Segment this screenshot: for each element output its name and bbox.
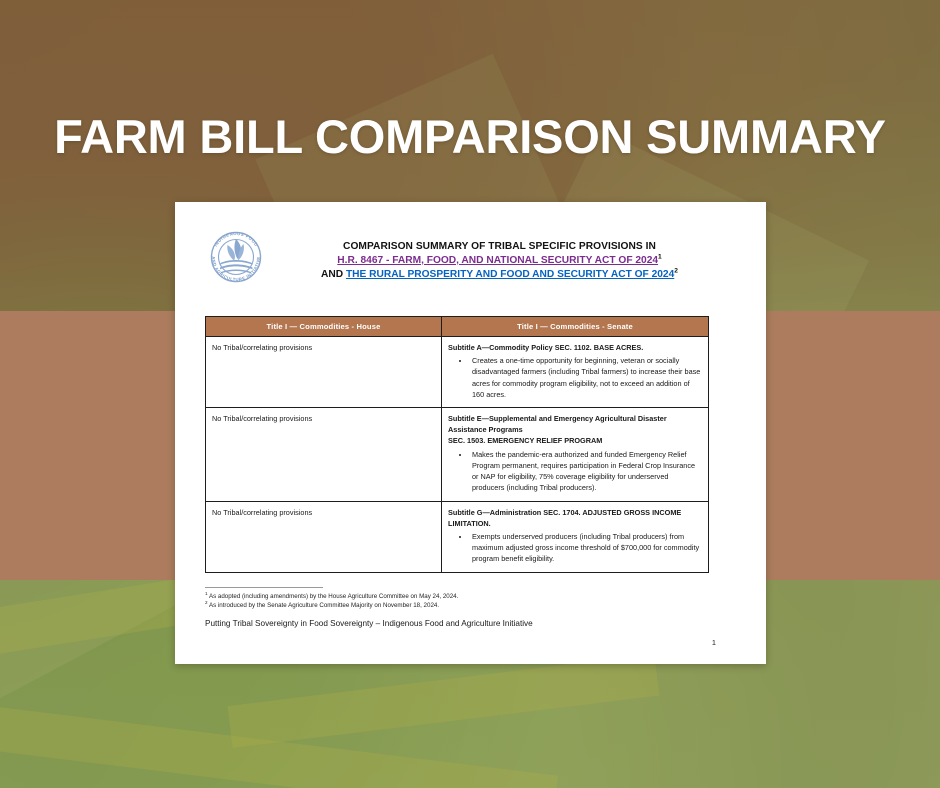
cell-house-provisions: No Tribal/correlating provisions: [206, 501, 442, 572]
document-tagline: Putting Tribal Sovereignty in Food Sover…: [205, 619, 736, 628]
table-row: No Tribal/correlating provisions Subtitl…: [206, 408, 709, 501]
cell-house-provisions: No Tribal/correlating provisions: [206, 337, 442, 408]
footnote-ref-1: 1: [658, 253, 662, 260]
banner-title: FARM BILL COMPARISON SUMMARY: [0, 112, 940, 161]
document-header: INDIGENOUS FOOD AND AGRICULTURE INITIATI…: [205, 224, 736, 304]
senate-section-heading: Subtitle A—Commodity Policy SEC. 1102. B…: [448, 342, 702, 353]
comparison-table: Title I — Commodities - House Title I — …: [205, 316, 709, 573]
footnote-1: 1 As adopted (including amendments) by t…: [205, 592, 736, 602]
cell-house-provisions: No Tribal/correlating provisions: [206, 408, 442, 501]
senate-section-heading: Subtitle E—Supplemental and Emergency Ag…: [448, 413, 702, 446]
cell-senate-provisions: Subtitle A—Commodity Policy SEC. 1102. B…: [442, 337, 709, 408]
page-number: 1: [205, 638, 736, 647]
footnote-2: 2 As introduced by the Senate Agricultur…: [205, 601, 736, 611]
list-item: Exempts underserved producers (including…: [470, 531, 702, 565]
iafi-logo-icon: INDIGENOUS FOOD AND AGRICULTURE INITIATI…: [205, 226, 267, 288]
rural-prosperity-act-link[interactable]: THE RURAL PROSPERITY AND FOOD AND SECURI…: [346, 269, 674, 280]
cell-senate-provisions: Subtitle G—Administration SEC. 1704. ADJ…: [442, 501, 709, 572]
footnote-2-marker: 2: [205, 600, 208, 605]
senate-bullet-list: Makes the pandemic-era authorized and fu…: [448, 449, 702, 494]
footnote-ref-2: 2: [674, 267, 678, 274]
table-header-row: Title I — Commodities - House Title I — …: [206, 317, 709, 337]
cell-senate-provisions: Subtitle E—Supplemental and Emergency Ag…: [442, 408, 709, 501]
footnote-1-marker: 1: [205, 591, 208, 596]
footnote-separator: [205, 587, 323, 588]
senate-bullet-list: Creates a one-time opportunity for begin…: [448, 355, 702, 400]
table-header-house: Title I — Commodities - House: [206, 317, 442, 337]
document-page: INDIGENOUS FOOD AND AGRICULTURE INITIATI…: [175, 202, 766, 664]
document-page-content: INDIGENOUS FOOD AND AGRICULTURE INITIATI…: [175, 202, 766, 664]
table-header-senate: Title I — Commodities - Senate: [442, 317, 709, 337]
senate-section-heading: Subtitle G—Administration SEC. 1704. ADJ…: [448, 507, 702, 529]
table-row: No Tribal/correlating provisions Subtitl…: [206, 337, 709, 408]
document-heading-line2: H.R. 8467 - FARM, FOOD, AND NATIONAL SEC…: [271, 254, 728, 268]
heading-line3-prefix: AND: [321, 269, 346, 280]
document-heading-line3: AND THE RURAL PROSPERITY AND FOOD AND SE…: [271, 268, 728, 282]
footnote-2-text: As introduced by the Senate Agriculture …: [209, 602, 439, 609]
list-item: Creates a one-time opportunity for begin…: [470, 355, 702, 400]
senate-bullet-list: Exempts underserved producers (including…: [448, 531, 702, 565]
hr-8467-link[interactable]: H.R. 8467 - FARM, FOOD, AND NATIONAL SEC…: [337, 255, 658, 266]
document-heading-block: COMPARISON SUMMARY OF TRIBAL SPECIFIC PR…: [271, 224, 736, 281]
slide-canvas: FARM BILL COMPARISON SUMMARY: [0, 0, 940, 788]
document-heading-line1: COMPARISON SUMMARY OF TRIBAL SPECIFIC PR…: [271, 240, 728, 254]
footnote-1-text: As adopted (including amendments) by the…: [209, 593, 458, 600]
list-item: Makes the pandemic-era authorized and fu…: [470, 449, 702, 494]
table-row: No Tribal/correlating provisions Subtitl…: [206, 501, 709, 572]
